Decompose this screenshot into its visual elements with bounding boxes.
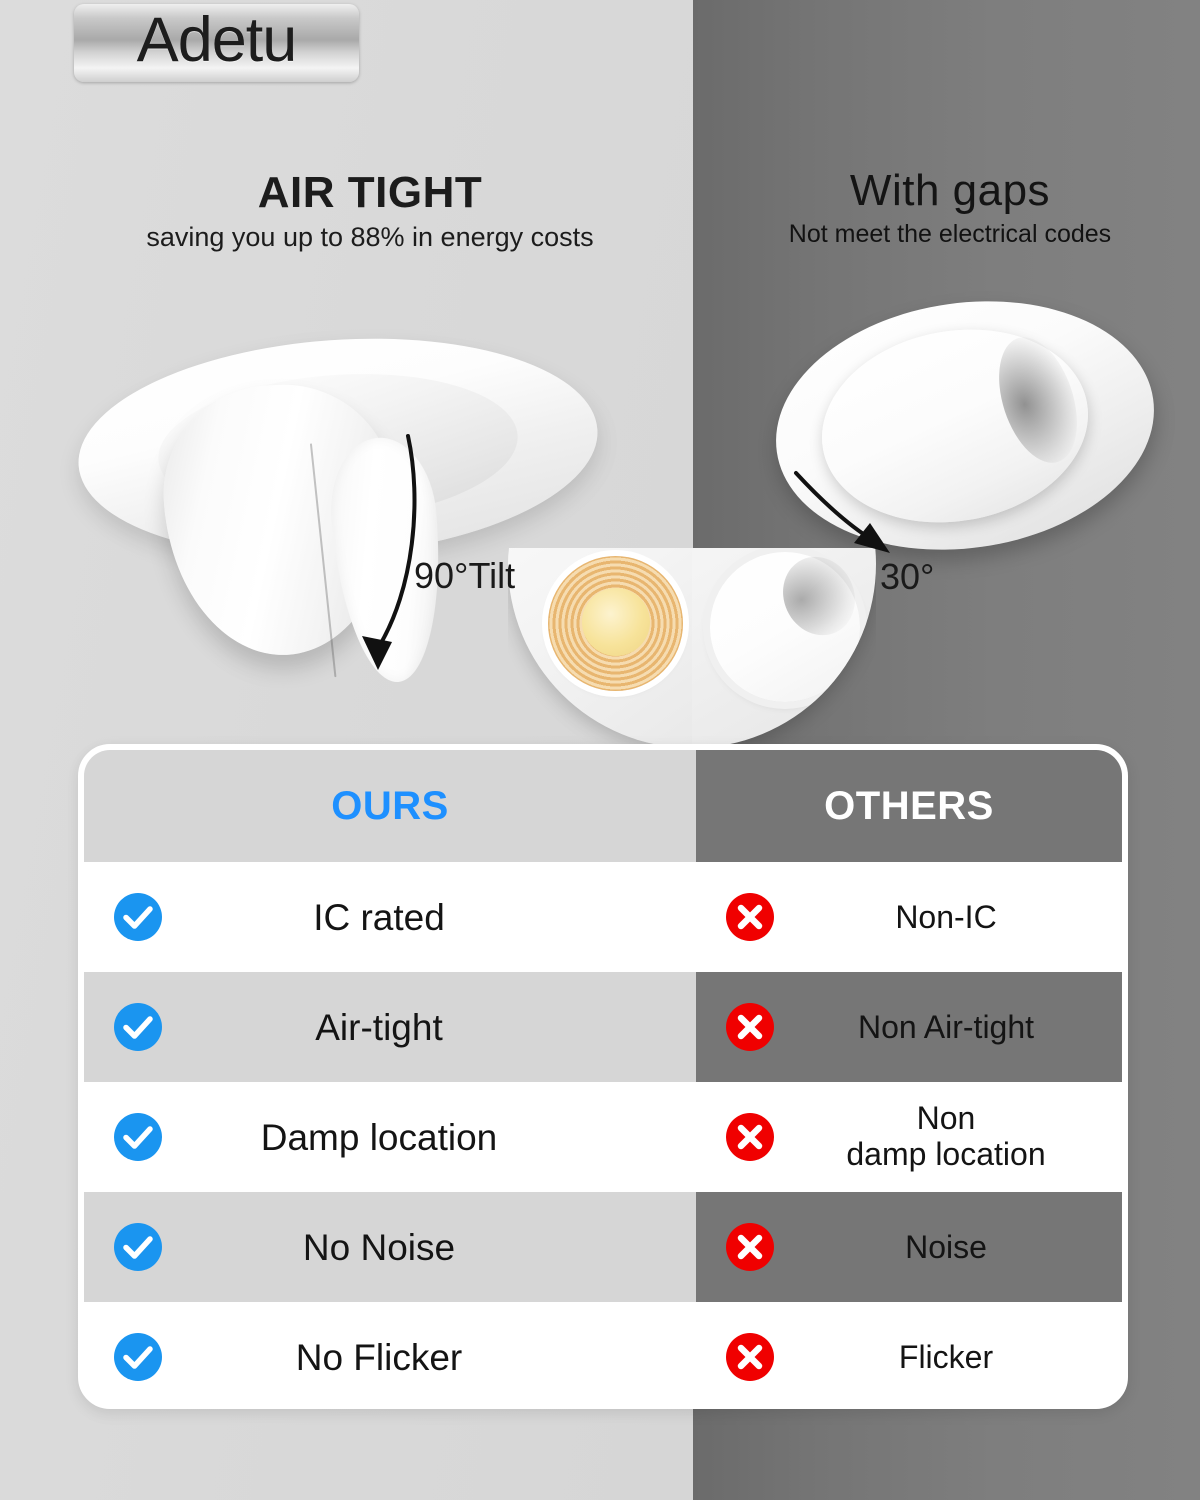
ours-status-icon bbox=[84, 1332, 192, 1382]
check-circle-icon bbox=[113, 1002, 163, 1052]
ours-feature-label: Air-tight bbox=[192, 1009, 696, 1046]
others-status-icon bbox=[696, 1332, 804, 1382]
comparison-table: OURS OTHERS IC ratedNon-ICAir-tightNon A… bbox=[78, 744, 1128, 1409]
table-header-cell-others: OTHERS bbox=[696, 750, 1122, 862]
others-status-icon bbox=[696, 1002, 804, 1052]
brand-name: Adetu bbox=[137, 9, 297, 78]
cob-led-reflector-icon bbox=[548, 556, 683, 691]
table-header-row: OURS OTHERS bbox=[84, 750, 1122, 862]
cross-circle-icon bbox=[725, 1112, 775, 1162]
others-status-icon bbox=[696, 1112, 804, 1162]
table-cell-others: Noise bbox=[696, 1192, 1122, 1302]
check-circle-icon bbox=[113, 1332, 163, 1382]
others-feature-label: Non-IC bbox=[804, 901, 1122, 933]
others-feature-label: Non Air-tight bbox=[804, 1011, 1122, 1043]
table-header-cell-ours: OURS bbox=[84, 750, 696, 862]
left-heading-block: AIR TIGHT saving you up to 88% in energy… bbox=[60, 170, 680, 253]
ours-status-icon bbox=[84, 892, 192, 942]
others-status-icon bbox=[696, 892, 804, 942]
table-row: IC ratedNon-IC bbox=[84, 862, 1122, 972]
table-cell-others: Non damp location bbox=[696, 1082, 1122, 1192]
table-cell-ours: No Noise bbox=[84, 1192, 696, 1302]
ours-status-icon bbox=[84, 1112, 192, 1162]
right-heading-block: With gaps Not meet the electrical codes bbox=[700, 168, 1200, 249]
left-angle-label: 90°Tilt bbox=[414, 555, 515, 597]
ours-feature-label: IC rated bbox=[192, 899, 696, 936]
check-circle-icon bbox=[113, 1112, 163, 1162]
ours-feature-label: No Flicker bbox=[192, 1339, 696, 1376]
table-cell-others: Flicker bbox=[696, 1302, 1122, 1409]
cross-circle-icon bbox=[725, 892, 775, 942]
check-circle-icon bbox=[113, 1222, 163, 1272]
ours-feature-label: Damp location bbox=[192, 1119, 696, 1156]
brand-logo-badge: Adetu bbox=[74, 4, 359, 82]
header-label-ours: OURS bbox=[331, 786, 449, 826]
others-feature-label: Noise bbox=[804, 1231, 1122, 1263]
header-label-others: OTHERS bbox=[824, 786, 994, 826]
others-feature-label: Non damp location bbox=[804, 1101, 1122, 1173]
table-cell-ours: Damp location bbox=[84, 1082, 696, 1192]
left-title: AIR TIGHT bbox=[60, 170, 680, 216]
check-circle-icon bbox=[113, 892, 163, 942]
table-cell-ours: IC rated bbox=[84, 862, 696, 972]
table-cell-others: Non-IC bbox=[696, 862, 1122, 972]
right-angle-label: 30° bbox=[880, 556, 934, 598]
table-row: Air-tightNon Air-tight bbox=[84, 972, 1122, 1082]
left-subtitle: saving you up to 88% in energy costs bbox=[60, 223, 680, 253]
ours-status-icon bbox=[84, 1222, 192, 1272]
ours-feature-label: No Noise bbox=[192, 1229, 696, 1266]
table-row: No NoiseNoise bbox=[84, 1192, 1122, 1302]
inset-ours-closeup bbox=[508, 548, 692, 748]
cross-circle-icon bbox=[725, 1332, 775, 1382]
right-subtitle: Not meet the electrical codes bbox=[700, 221, 1200, 249]
table-cell-others: Non Air-tight bbox=[696, 972, 1122, 1082]
cross-circle-icon bbox=[725, 1222, 775, 1272]
table-cell-ours: No Flicker bbox=[84, 1302, 696, 1409]
cob-led-chip bbox=[582, 588, 650, 656]
table-row: No FlickerFlicker bbox=[84, 1302, 1122, 1409]
cross-circle-icon bbox=[725, 1002, 775, 1052]
right-title: With gaps bbox=[700, 168, 1200, 214]
ours-status-icon bbox=[84, 1002, 192, 1052]
others-status-icon bbox=[696, 1222, 804, 1272]
table-cell-ours: Air-tight bbox=[84, 972, 696, 1082]
table-body: IC ratedNon-ICAir-tightNon Air-tightDamp… bbox=[84, 862, 1122, 1409]
others-feature-label: Flicker bbox=[804, 1341, 1122, 1373]
table-row: Damp locationNon damp location bbox=[84, 1082, 1122, 1192]
